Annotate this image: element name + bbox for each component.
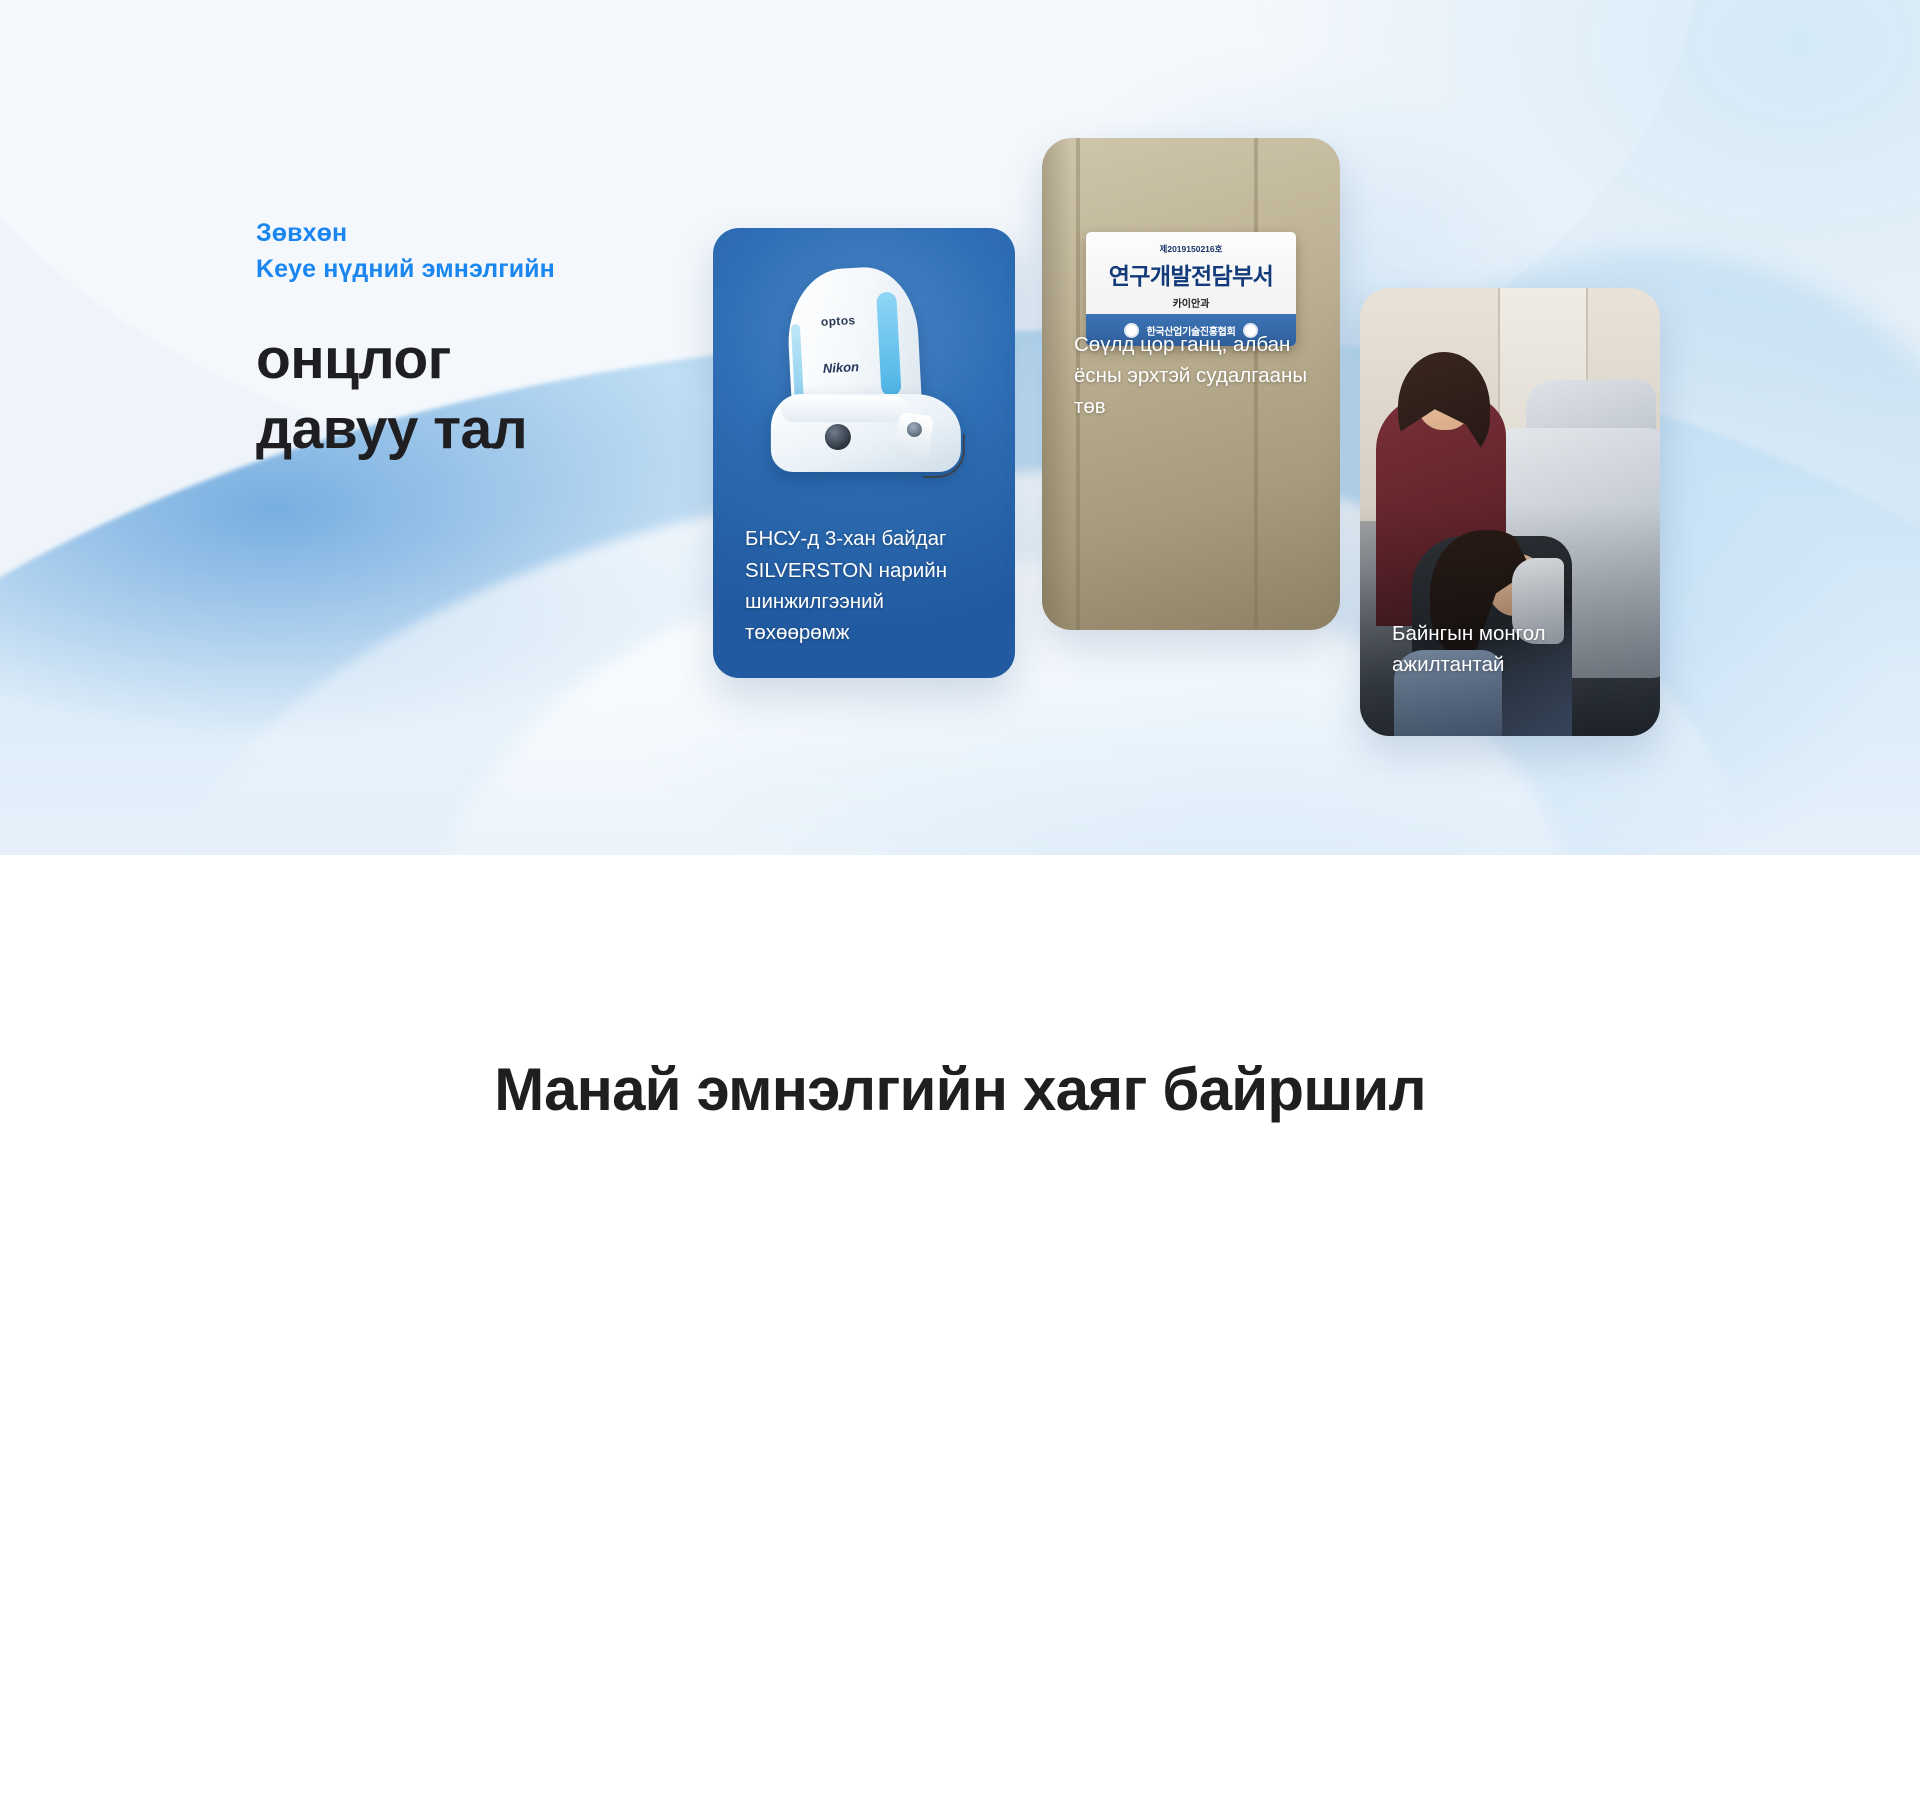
- device-brand-optos-label: optos: [821, 313, 856, 329]
- sign-main-title: 연구개발전담부서: [1086, 257, 1296, 291]
- hero-eyebrow-line-2: Keye нүдний эмнэлгийн: [256, 252, 555, 288]
- optos-device-illustration: optos Nikon: [771, 268, 965, 473]
- hero-copy: Зөвхөн Keye нүдний эмнэлгийн онцлог даву…: [256, 216, 555, 464]
- feature-card-device-caption: БНСУ-д 3-хан байдаг SILVERSTON нарийн ши…: [713, 523, 1015, 678]
- feature-card-certification[interactable]: 제2019150216호 연구개발전담부서 카이안과 한국산업기술진흥협회 Сө…: [1042, 138, 1340, 630]
- feature-card-staff[interactable]: Байнгын монгол ажилтантай: [1360, 288, 1660, 736]
- hero-eyebrow: Зөвхөн Keye нүдний эмнэлгийн: [256, 216, 555, 287]
- location-title: Манай эмнэлгийн хаяг байршил: [0, 855, 1920, 1124]
- hero-title-line-2: давуу тал: [256, 395, 555, 465]
- sign-registration-number: 제2019150216호: [1086, 243, 1296, 255]
- device-brand-nikon-label: Nikon: [823, 359, 860, 376]
- hero-section: Зөвхөн Keye нүдний эмнэлгийн онцлог даву…: [0, 0, 1920, 855]
- hero-eyebrow-line-1: Зөвхөн: [256, 216, 555, 252]
- feature-card-device[interactable]: optos Nikon БНСУ-д 3-хан байдаг SILVERST…: [713, 228, 1015, 678]
- feature-card-certification-caption: Сөүлд цор ганц, албан ёсны эрхтэй судалг…: [1042, 329, 1340, 630]
- hero-title-line-1: онцлог: [256, 325, 555, 395]
- sign-clinic-name: 카이안과: [1086, 295, 1296, 310]
- feature-card-staff-caption: Байнгын монгол ажилтантай: [1360, 618, 1660, 736]
- location-section: Манай эмнэлгийн хаяг байршил ❮ Ёогсам ёо…: [0, 855, 1920, 1793]
- hero-title: онцлог давуу тал: [256, 325, 555, 464]
